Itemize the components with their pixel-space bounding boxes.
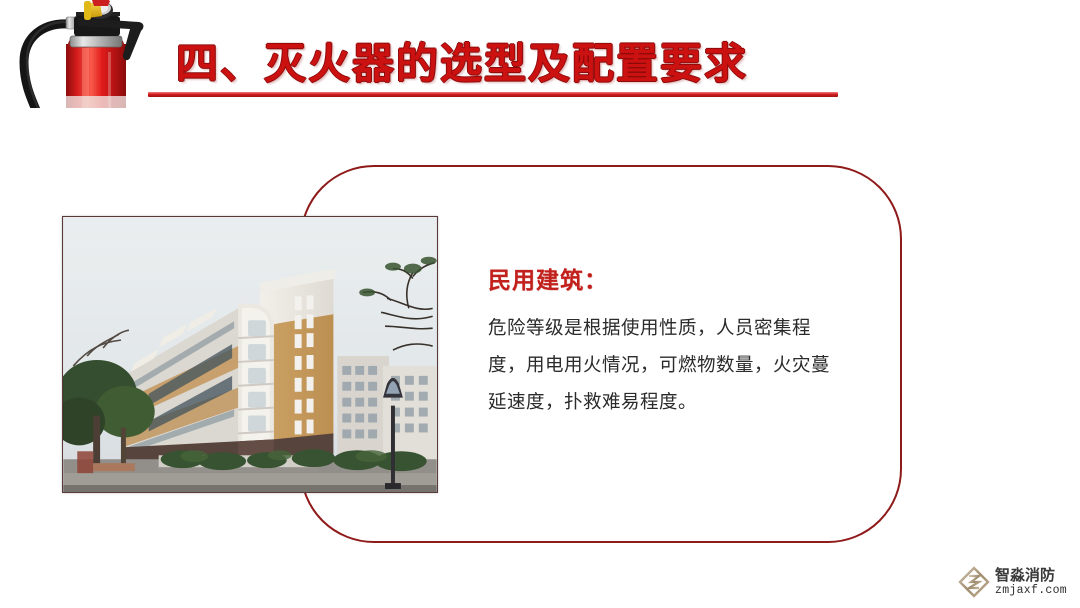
residential-building-photo bbox=[62, 216, 438, 493]
watermark-url: zmjaxf.com bbox=[995, 585, 1067, 597]
title-underline-rule bbox=[148, 92, 838, 97]
slide-canvas: 四、灭火器的选型及配置要求 bbox=[0, 0, 1080, 608]
content-text-column: 民用建筑： 危险等级是根据使用性质，人员密集程度，用电用火情况，可燃物数量，火灾… bbox=[488, 266, 868, 421]
page-title: 四、灭火器的选型及配置要求 bbox=[176, 38, 748, 90]
slide-title-block: 四、灭火器的选型及配置要求 bbox=[148, 38, 848, 100]
content-heading: 民用建筑： bbox=[488, 266, 868, 296]
zhimiao-diamond-logo-icon bbox=[958, 566, 990, 598]
watermark-brand-name: 智淼消防 bbox=[995, 568, 1067, 583]
watermark: 智淼消防 zmjaxf.com bbox=[958, 561, 1076, 603]
watermark-text: 智淼消防 zmjaxf.com bbox=[995, 568, 1067, 597]
fire-extinguisher-icon bbox=[8, 0, 158, 108]
content-paragraph: 危险等级是根据使用性质，人员密集程度，用电用火情况，可燃物数量，火灾蔓延速度，扑… bbox=[488, 310, 848, 421]
